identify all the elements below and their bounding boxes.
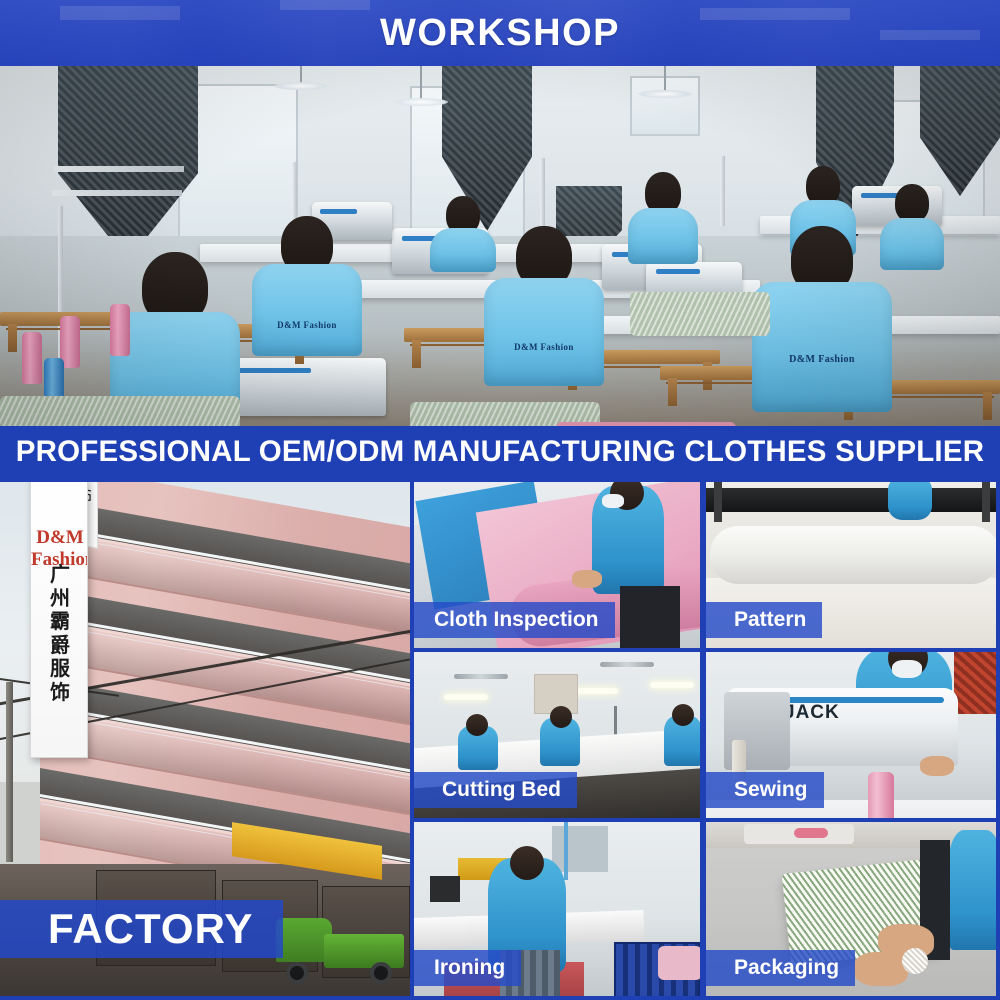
cell-sewing: JACK Sewing — [706, 652, 996, 818]
factory-label: FACTORY — [0, 900, 283, 958]
wall-fabric — [954, 652, 996, 714]
photo-vignette — [0, 66, 1000, 426]
ceiling-fan — [454, 674, 508, 679]
cell-packaging: Packaging — [706, 822, 996, 996]
cell-label-ironing: Ironing — [414, 950, 521, 986]
truck-bed — [324, 934, 404, 968]
pink-item — [794, 828, 828, 838]
light-tube — [650, 682, 694, 688]
factory-label-text: FACTORY — [0, 908, 253, 950]
cell-label-cloth-inspection: Cloth Inspection — [414, 602, 615, 638]
poster-root: WORKSHOP — [0, 0, 1000, 1000]
cell-ironing: Ironing — [414, 822, 700, 996]
green-tricycle — [268, 912, 408, 990]
light-tube — [574, 688, 618, 694]
worker-head — [510, 846, 544, 880]
workshop-photo: D&M Fashion D&M Fashion D&M Fashion — [0, 66, 1000, 426]
wall-box — [430, 876, 460, 902]
lace-cuff — [902, 948, 928, 974]
cell-cloth-inspection: Cloth Inspection — [414, 482, 700, 648]
cell-pattern: Pattern — [706, 482, 996, 648]
face-mask — [602, 494, 624, 508]
cell-label-cutting-bed: Cutting Bed — [414, 772, 577, 808]
factory-sign-cn: 广州霸爵服饰 — [31, 563, 88, 705]
pattern-machine-bar — [706, 488, 996, 512]
machine-brand-label: JACK — [784, 702, 840, 724]
worker-head — [672, 704, 694, 726]
wall-panel — [552, 826, 608, 872]
page-title: WORKSHOP — [0, 0, 1000, 66]
machine-leg — [714, 482, 722, 522]
worker-hand — [920, 756, 954, 776]
worker-head — [550, 706, 572, 728]
machine-leg — [982, 482, 990, 522]
light-tube — [444, 694, 488, 700]
cell-label-sewing: Sewing — [706, 772, 824, 808]
mid-banner-title: PROFESSIONAL OEM/ODM MANUFACTURING CLOTH… — [16, 437, 984, 467]
cell-label-packaging: Packaging — [706, 950, 855, 986]
truck-wheel — [286, 962, 308, 984]
worker — [888, 482, 932, 520]
mid-banner: PROFESSIONAL OEM/ODM MANUFACTURING CLOTH… — [0, 426, 1000, 478]
garment-pile — [658, 946, 700, 980]
factory-photo: 服饰 D&M Fashion 广州霸爵服饰 FACTORY — [0, 482, 410, 996]
thread-cone — [868, 772, 894, 818]
pattern-paper-roll — [710, 526, 996, 584]
worker-trousers — [620, 586, 680, 648]
steam-hose — [564, 822, 568, 880]
worker — [948, 830, 996, 950]
factory-sign-board: D&M Fashion 广州霸爵服饰 — [30, 482, 88, 758]
lower-section: 服饰 D&M Fashion 广州霸爵服饰 FACTORY — [0, 478, 1000, 1000]
cell-label-pattern: Pattern — [706, 602, 822, 638]
worker-hand — [572, 570, 602, 588]
face-mask — [892, 660, 922, 678]
worker-hand — [854, 952, 908, 986]
top-banner: WORKSHOP — [0, 0, 1000, 66]
truck-wheel — [370, 962, 392, 984]
utility-pole — [6, 682, 13, 862]
ceiling-fan — [600, 662, 654, 667]
cell-cutting-bed: Cutting Bed — [414, 652, 700, 818]
worker-head — [466, 714, 488, 736]
